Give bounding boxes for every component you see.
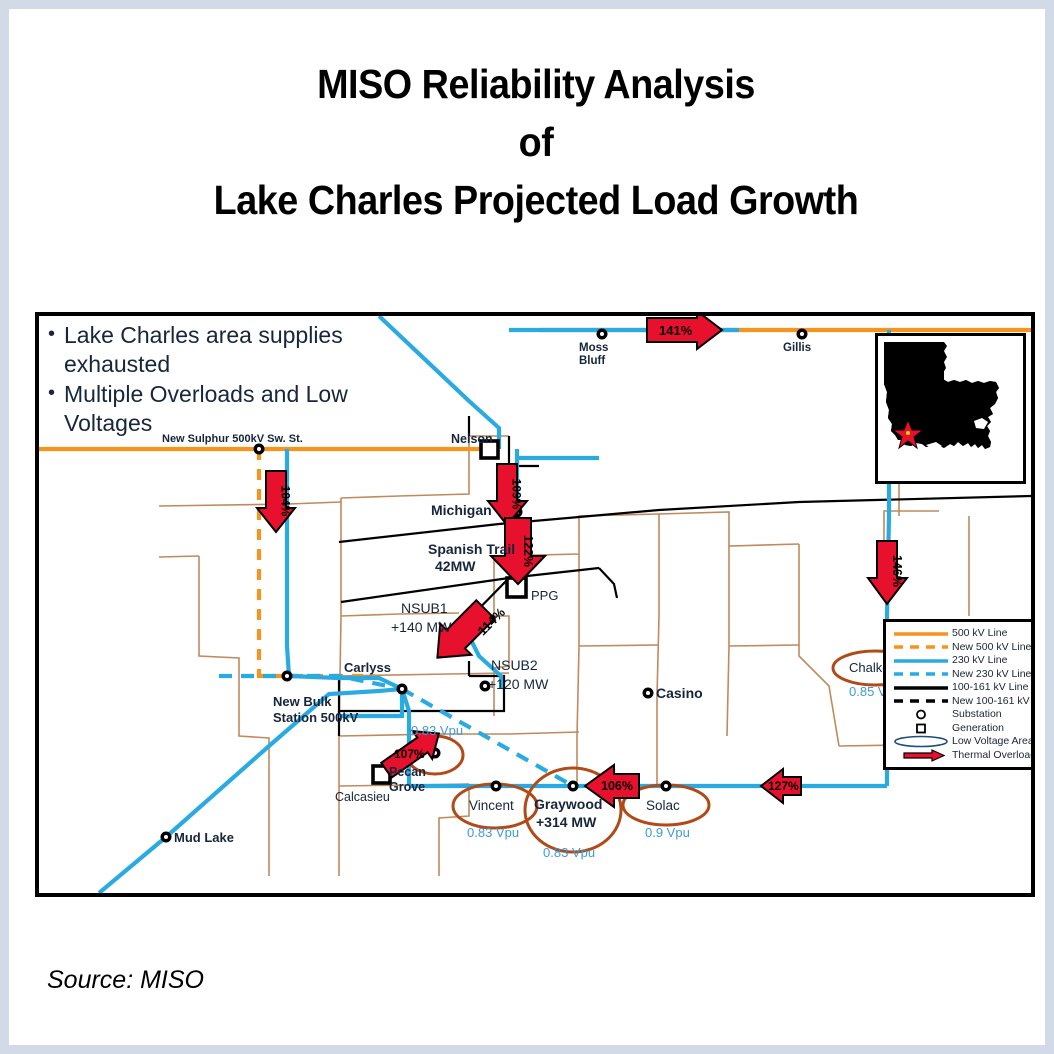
callout-bullets: Lake Charles area supplies exhausted Mul… (47, 321, 392, 439)
legend-label: 230 kV Line (952, 654, 1007, 667)
overload-label-122: 122% (521, 535, 535, 567)
voltage-label-vincent: 0.83 Vpu (467, 825, 519, 840)
legend-label: New 230 kV Line (952, 668, 1031, 681)
legend-row-100kv: 100-161 kV Line (890, 681, 1035, 695)
label-new-bulk-station-2: Station 500kV (273, 710, 358, 725)
legend-label: New 100-161 kV (952, 695, 1030, 708)
label-spanish-trail-mw: 42MW (435, 558, 475, 574)
label-nsub1-mw: +140 MW (391, 619, 451, 635)
bullet-item: Lake Charles area supplies exhausted (47, 321, 392, 379)
low-voltage-area-icon (890, 735, 952, 748)
label-spanish-trail: Spanish Trail (428, 541, 515, 557)
legend-swatch-dashed-500kv-icon (890, 642, 952, 652)
network-map: Lake Charles area supplies exhausted Mul… (35, 312, 1035, 897)
title-line-2: of (51, 113, 1021, 171)
label-graywood-mw: +314 MW (536, 814, 596, 830)
overload-label-106: 106% (601, 779, 633, 793)
title-line-1: MISO Reliability Analysis (51, 55, 1021, 113)
legend-label: Low Voltage Area (952, 735, 1034, 748)
label-moss-bluff: MossBluff (579, 342, 608, 368)
legend-row-500kv: 500 kV Line (890, 627, 1035, 641)
label-mud-lake: Mud Lake (174, 830, 234, 845)
louisiana-shape-svg (878, 336, 1017, 475)
slide-canvas: MISO Reliability Analysis of Lake Charle… (0, 0, 1054, 1054)
overload-label-141: 141% (659, 323, 692, 338)
legend-row-new-500kv: New 500 kV Line (890, 641, 1035, 655)
overload-label-127: 127% (768, 779, 799, 793)
legend-swatch-dashed-230kv-icon (890, 669, 952, 679)
bullet-item: Multiple Overloads and Low Voltages (47, 380, 392, 438)
legend-label: Thermal Overloads (952, 749, 1035, 762)
label-nsub1: NSUB1 (401, 600, 448, 616)
label-nsub2: NSUB2 (491, 657, 538, 673)
page-title: MISO Reliability Analysis of Lake Charle… (51, 55, 1021, 229)
overload-label-107: 107% (394, 747, 425, 761)
legend-swatch-solid-230kv-icon (890, 656, 952, 666)
substation-icon (890, 709, 952, 720)
map-legend: 500 kV Line New 500 kV Line 230 kV Line … (883, 619, 1035, 770)
legend-swatch-solid-500kv-icon (890, 629, 952, 639)
louisiana-inset-map (875, 333, 1026, 484)
source-attribution: Source: MISO (47, 966, 204, 995)
legend-row-thermal-overload: Thermal Overloads (890, 749, 1035, 763)
label-text: MossBluff (579, 342, 608, 367)
voltage-label-carlyss: 0.83 Vpu (411, 723, 463, 738)
overload-label-146: 146% (890, 555, 904, 587)
legend-label: New 500 kV Line (952, 641, 1031, 654)
title-line-3: Lake Charles Projected Load Growth (51, 171, 1021, 229)
label-new-bulk-station-1: New Bulk (273, 694, 332, 709)
legend-row-substation: Substation (890, 708, 1035, 722)
voltage-label-graywood: 0.83 Vpu (543, 845, 595, 860)
label-calcasieu: Calcasieu (335, 790, 390, 804)
label-solac: Solac (646, 798, 680, 813)
generation-icon (890, 723, 952, 734)
label-carlyss: Carlyss (344, 660, 391, 675)
overload-label-104: 104% (278, 486, 292, 517)
overload-label-109: 109% (509, 479, 523, 510)
thermal-overload-arrow-icon (890, 749, 952, 762)
label-vincent: Vincent (469, 798, 514, 813)
legend-label: Substation (952, 708, 1002, 721)
legend-row-230kv: 230 kV Line (890, 654, 1035, 668)
label-ppg: PPG (531, 588, 558, 603)
legend-label: 100-161 kV Line (952, 681, 1028, 694)
label-michigan: Michigan (431, 502, 492, 518)
voltage-label-solac: 0.9 Vpu (645, 825, 690, 840)
legend-label: Generation (952, 722, 1004, 735)
label-graywood: Graywood (534, 796, 602, 812)
label-grove: Grove (389, 780, 425, 794)
legend-swatch-dashed-100kv-icon (890, 696, 952, 706)
label-gillis: Gillis (783, 342, 811, 354)
legend-label: 500 kV Line (952, 627, 1007, 640)
label-nsub2-mw: +120 MW (488, 676, 548, 692)
label-casino: Casino (656, 685, 703, 701)
legend-row-generation: Generation (890, 722, 1035, 736)
legend-swatch-solid-100kv-icon (890, 683, 952, 693)
legend-row-low-voltage: Low Voltage Area (890, 735, 1035, 749)
legend-row-new-230kv: New 230 kV Line (890, 668, 1035, 682)
legend-row-new-100kv: New 100-161 kV (890, 695, 1035, 709)
label-pecan: Pecan (389, 765, 426, 779)
label-nelson: Nelson (451, 432, 493, 446)
